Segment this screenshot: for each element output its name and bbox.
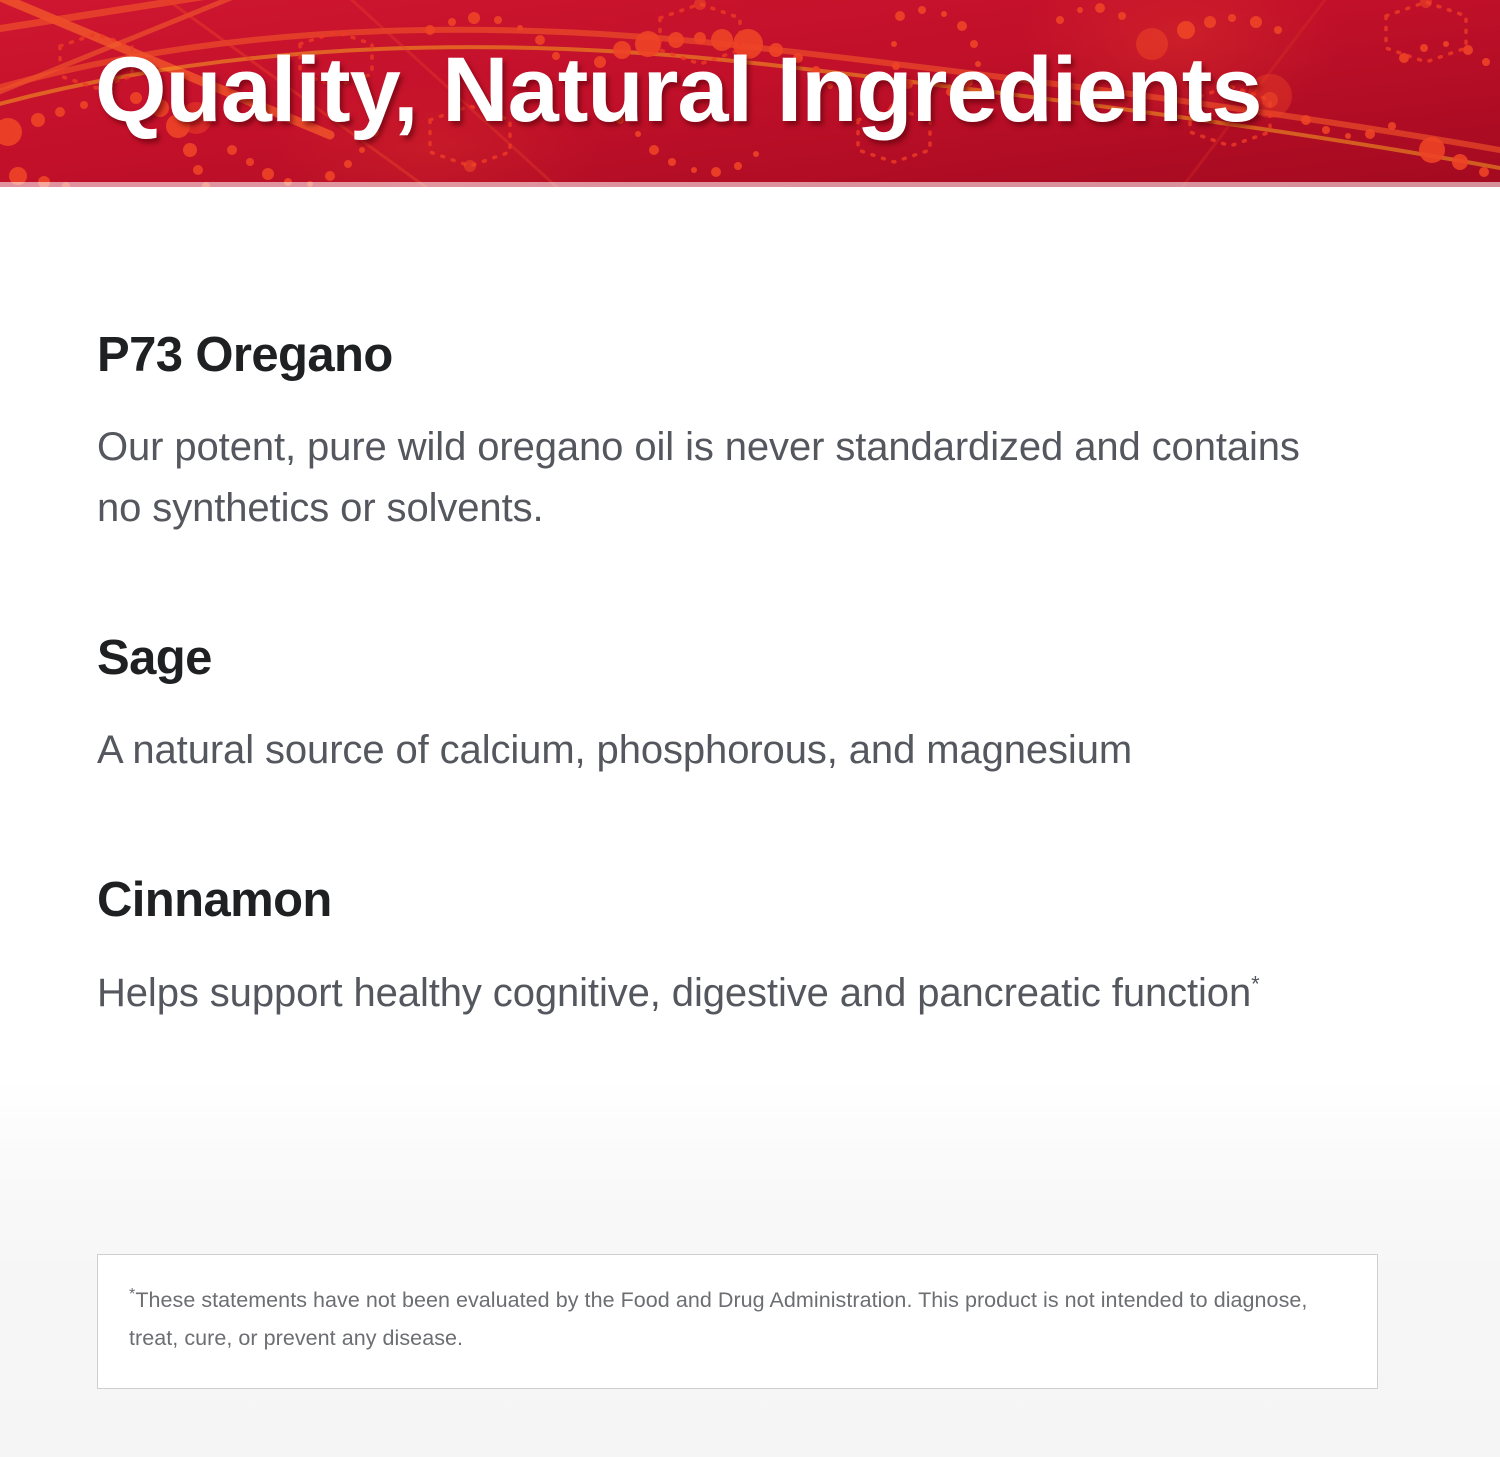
ingredient-title-sage: Sage (97, 633, 1387, 684)
fda-disclaimer-body: These statements have not been evaluated… (129, 1288, 1307, 1350)
ingredient-description-cinnamon-text: Helps support healthy cognitive, digesti… (97, 971, 1251, 1015)
fda-disclaimer-text: *These statements have not been evaluate… (129, 1281, 1346, 1358)
ingredient-title-cinnamon: Cinnamon (97, 875, 1387, 926)
footnote-marker-cinnamon: * (1251, 971, 1259, 996)
page-banner: Quality, Natural Ingredients (0, 0, 1500, 187)
ingredient-description-cinnamon: Helps support healthy cognitive, digesti… (97, 963, 1312, 1024)
ingredients-list: P73 Oregano Our potent, pure wild oregan… (97, 330, 1387, 1024)
ingredient-section-sage: Sage A natural source of calcium, phosph… (97, 633, 1387, 781)
fda-disclaimer-box: *These statements have not been evaluate… (97, 1254, 1378, 1389)
ingredient-title-oregano: P73 Oregano (97, 330, 1387, 381)
ingredient-section-oregano: P73 Oregano Our potent, pure wild oregan… (97, 330, 1387, 539)
ingredient-description-oregano: Our potent, pure wild oregano oil is nev… (97, 417, 1312, 539)
page-root: Quality, Natural Ingredients P73 Oregano… (0, 0, 1500, 1457)
ingredient-description-sage: A natural source of calcium, phosphorous… (97, 720, 1312, 781)
page-title: Quality, Natural Ingredients (95, 44, 1262, 136)
ingredient-section-cinnamon: Cinnamon Helps support healthy cognitive… (97, 875, 1387, 1023)
